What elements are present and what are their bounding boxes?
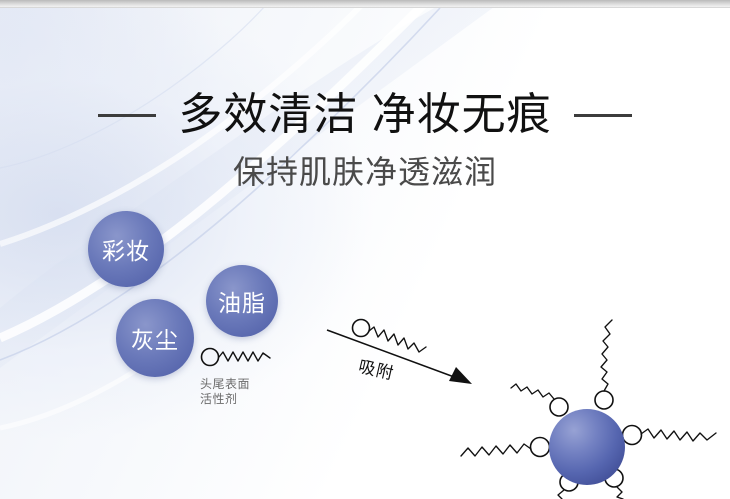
arrow-right-icon xyxy=(327,330,472,384)
arrow-surfactant-icon xyxy=(353,320,427,353)
adsorption-diagram xyxy=(0,0,730,499)
page-root: 多效清洁 净妆无痕 保持肌肤净透滋润 彩妆 灰尘 油脂 头尾表面 活性剂 xyxy=(0,0,730,499)
micelle-sphere-icon xyxy=(461,320,716,499)
